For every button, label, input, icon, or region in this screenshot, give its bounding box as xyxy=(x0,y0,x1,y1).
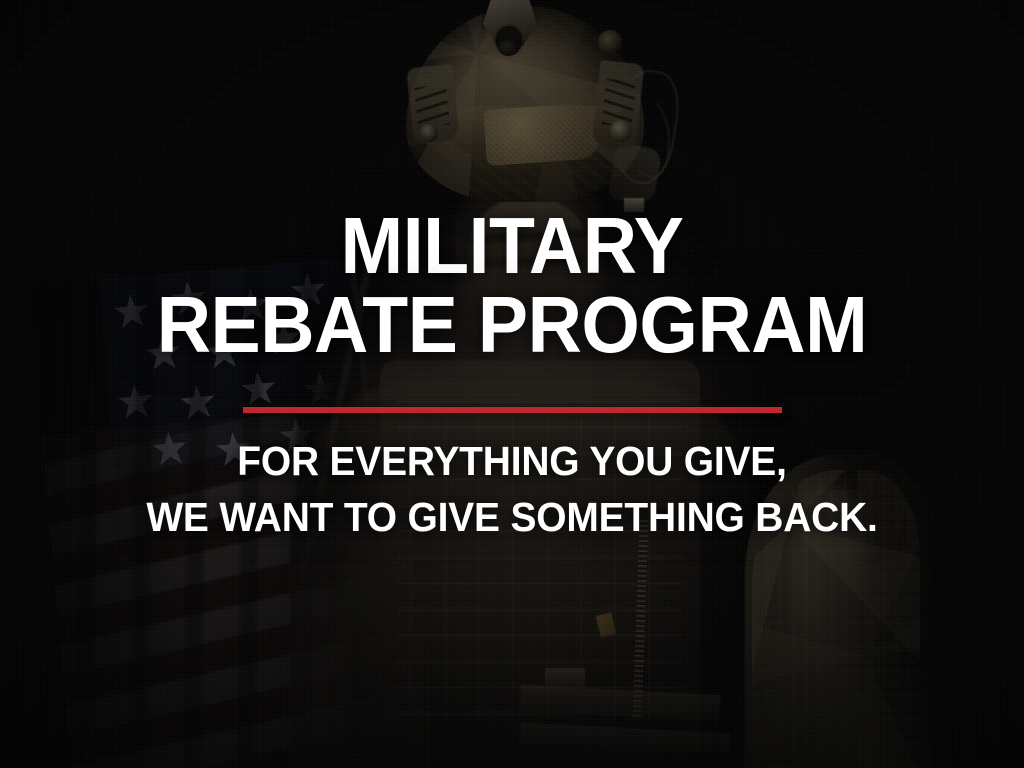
military-rebate-poster: MILITARY REBATE PROGRAM FOR EVERYTHING Y… xyxy=(0,0,1024,768)
headline-line-1: MILITARY xyxy=(31,208,994,285)
subheadline-line-1: FOR EVERYTHING YOU GIVE, xyxy=(26,439,999,483)
subheadline-line-2: WE WANT TO GIVE SOMETHING BACK. xyxy=(26,495,999,539)
page-title: MILITARY REBATE PROGRAM xyxy=(0,208,1024,364)
text-overlay: MILITARY REBATE PROGRAM FOR EVERYTHING Y… xyxy=(0,0,1024,768)
red-divider-rule xyxy=(243,407,782,413)
page-subtitle: FOR EVERYTHING YOU GIVE, WE WANT TO GIVE… xyxy=(0,439,1024,540)
divider-container xyxy=(0,407,1024,413)
headline-line-2: REBATE PROGRAM xyxy=(31,287,994,364)
